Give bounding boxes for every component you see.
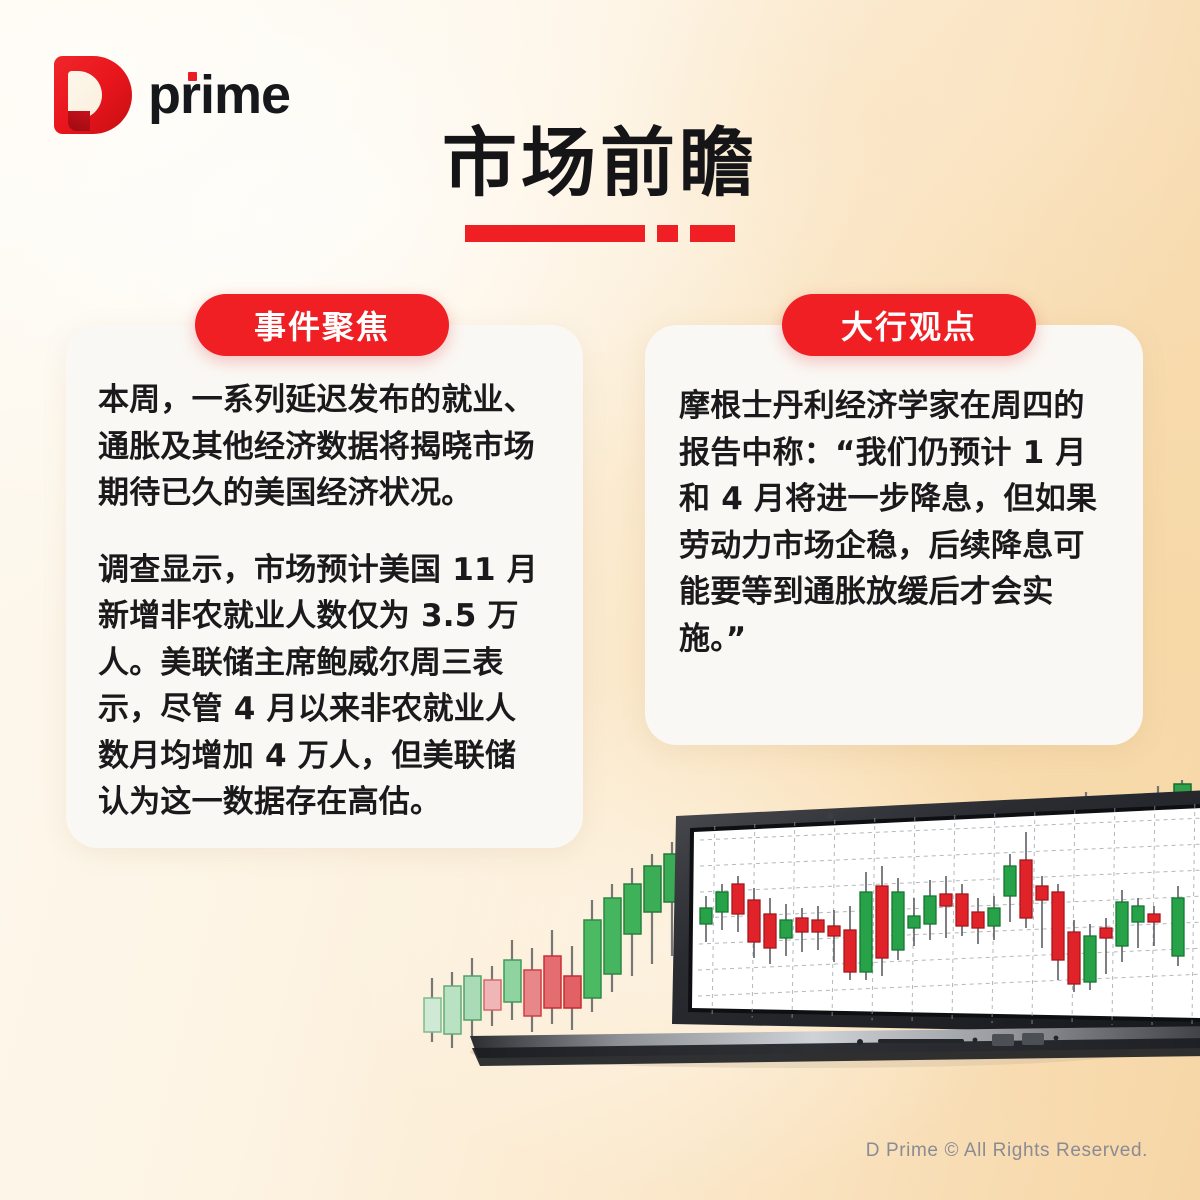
event-focus-paragraph-1: 本周，一系列延迟发布的就业、通胀及其他经济数据将揭晓市场期待已久的美国经济状况。 <box>98 377 547 517</box>
badge-event-focus-label: 事件聚焦 <box>254 302 390 348</box>
page-title-block: 市场前瞻 <box>0 124 1200 242</box>
bank-views-card: 摩根士丹利经济学家在周四的报告中称：“我们仍预计 1 月和 4 月将进一步降息，… <box>645 325 1143 745</box>
bank-views-paragraph-1: 摩根士丹利经济学家在周四的报告中称：“我们仍预计 1 月和 4 月将进一步降息，… <box>679 383 1113 662</box>
background-artwork <box>0 780 1200 1200</box>
rule-segment-long <box>465 225 645 242</box>
badge-bank-views[interactable]: 大行观点 <box>782 294 1036 356</box>
poster-canvas: prime 市场前瞻 <box>0 0 1200 1200</box>
title-underline-rule <box>0 225 1200 242</box>
bank-views-card-body: 摩根士丹利经济学家在周四的报告中称：“我们仍预计 1 月和 4 月将进一步降息，… <box>645 325 1143 686</box>
page-title: 市场前瞻 <box>0 124 1200 203</box>
logo-wordmark: prime <box>148 68 290 122</box>
badge-event-focus[interactable]: 事件聚焦 <box>195 294 449 356</box>
rule-segment-mid <box>690 225 735 242</box>
logo-i-dot-icon <box>188 72 197 81</box>
event-focus-card: 本周，一系列延迟发布的就业、通胀及其他经济数据将揭晓市场期待已久的美国经济状况。… <box>66 325 583 848</box>
laptop-icon <box>0 780 1200 1200</box>
event-focus-card-body: 本周，一系列延迟发布的就业、通胀及其他经济数据将揭晓市场期待已久的美国经济状况。… <box>66 325 583 854</box>
badge-bank-views-label: 大行观点 <box>841 302 977 348</box>
d-prime-logo-icon <box>54 56 132 134</box>
logo-wordmark-text: prime <box>148 65 290 125</box>
rule-segment-dot <box>657 225 678 242</box>
brand-logo[interactable]: prime <box>54 56 290 134</box>
